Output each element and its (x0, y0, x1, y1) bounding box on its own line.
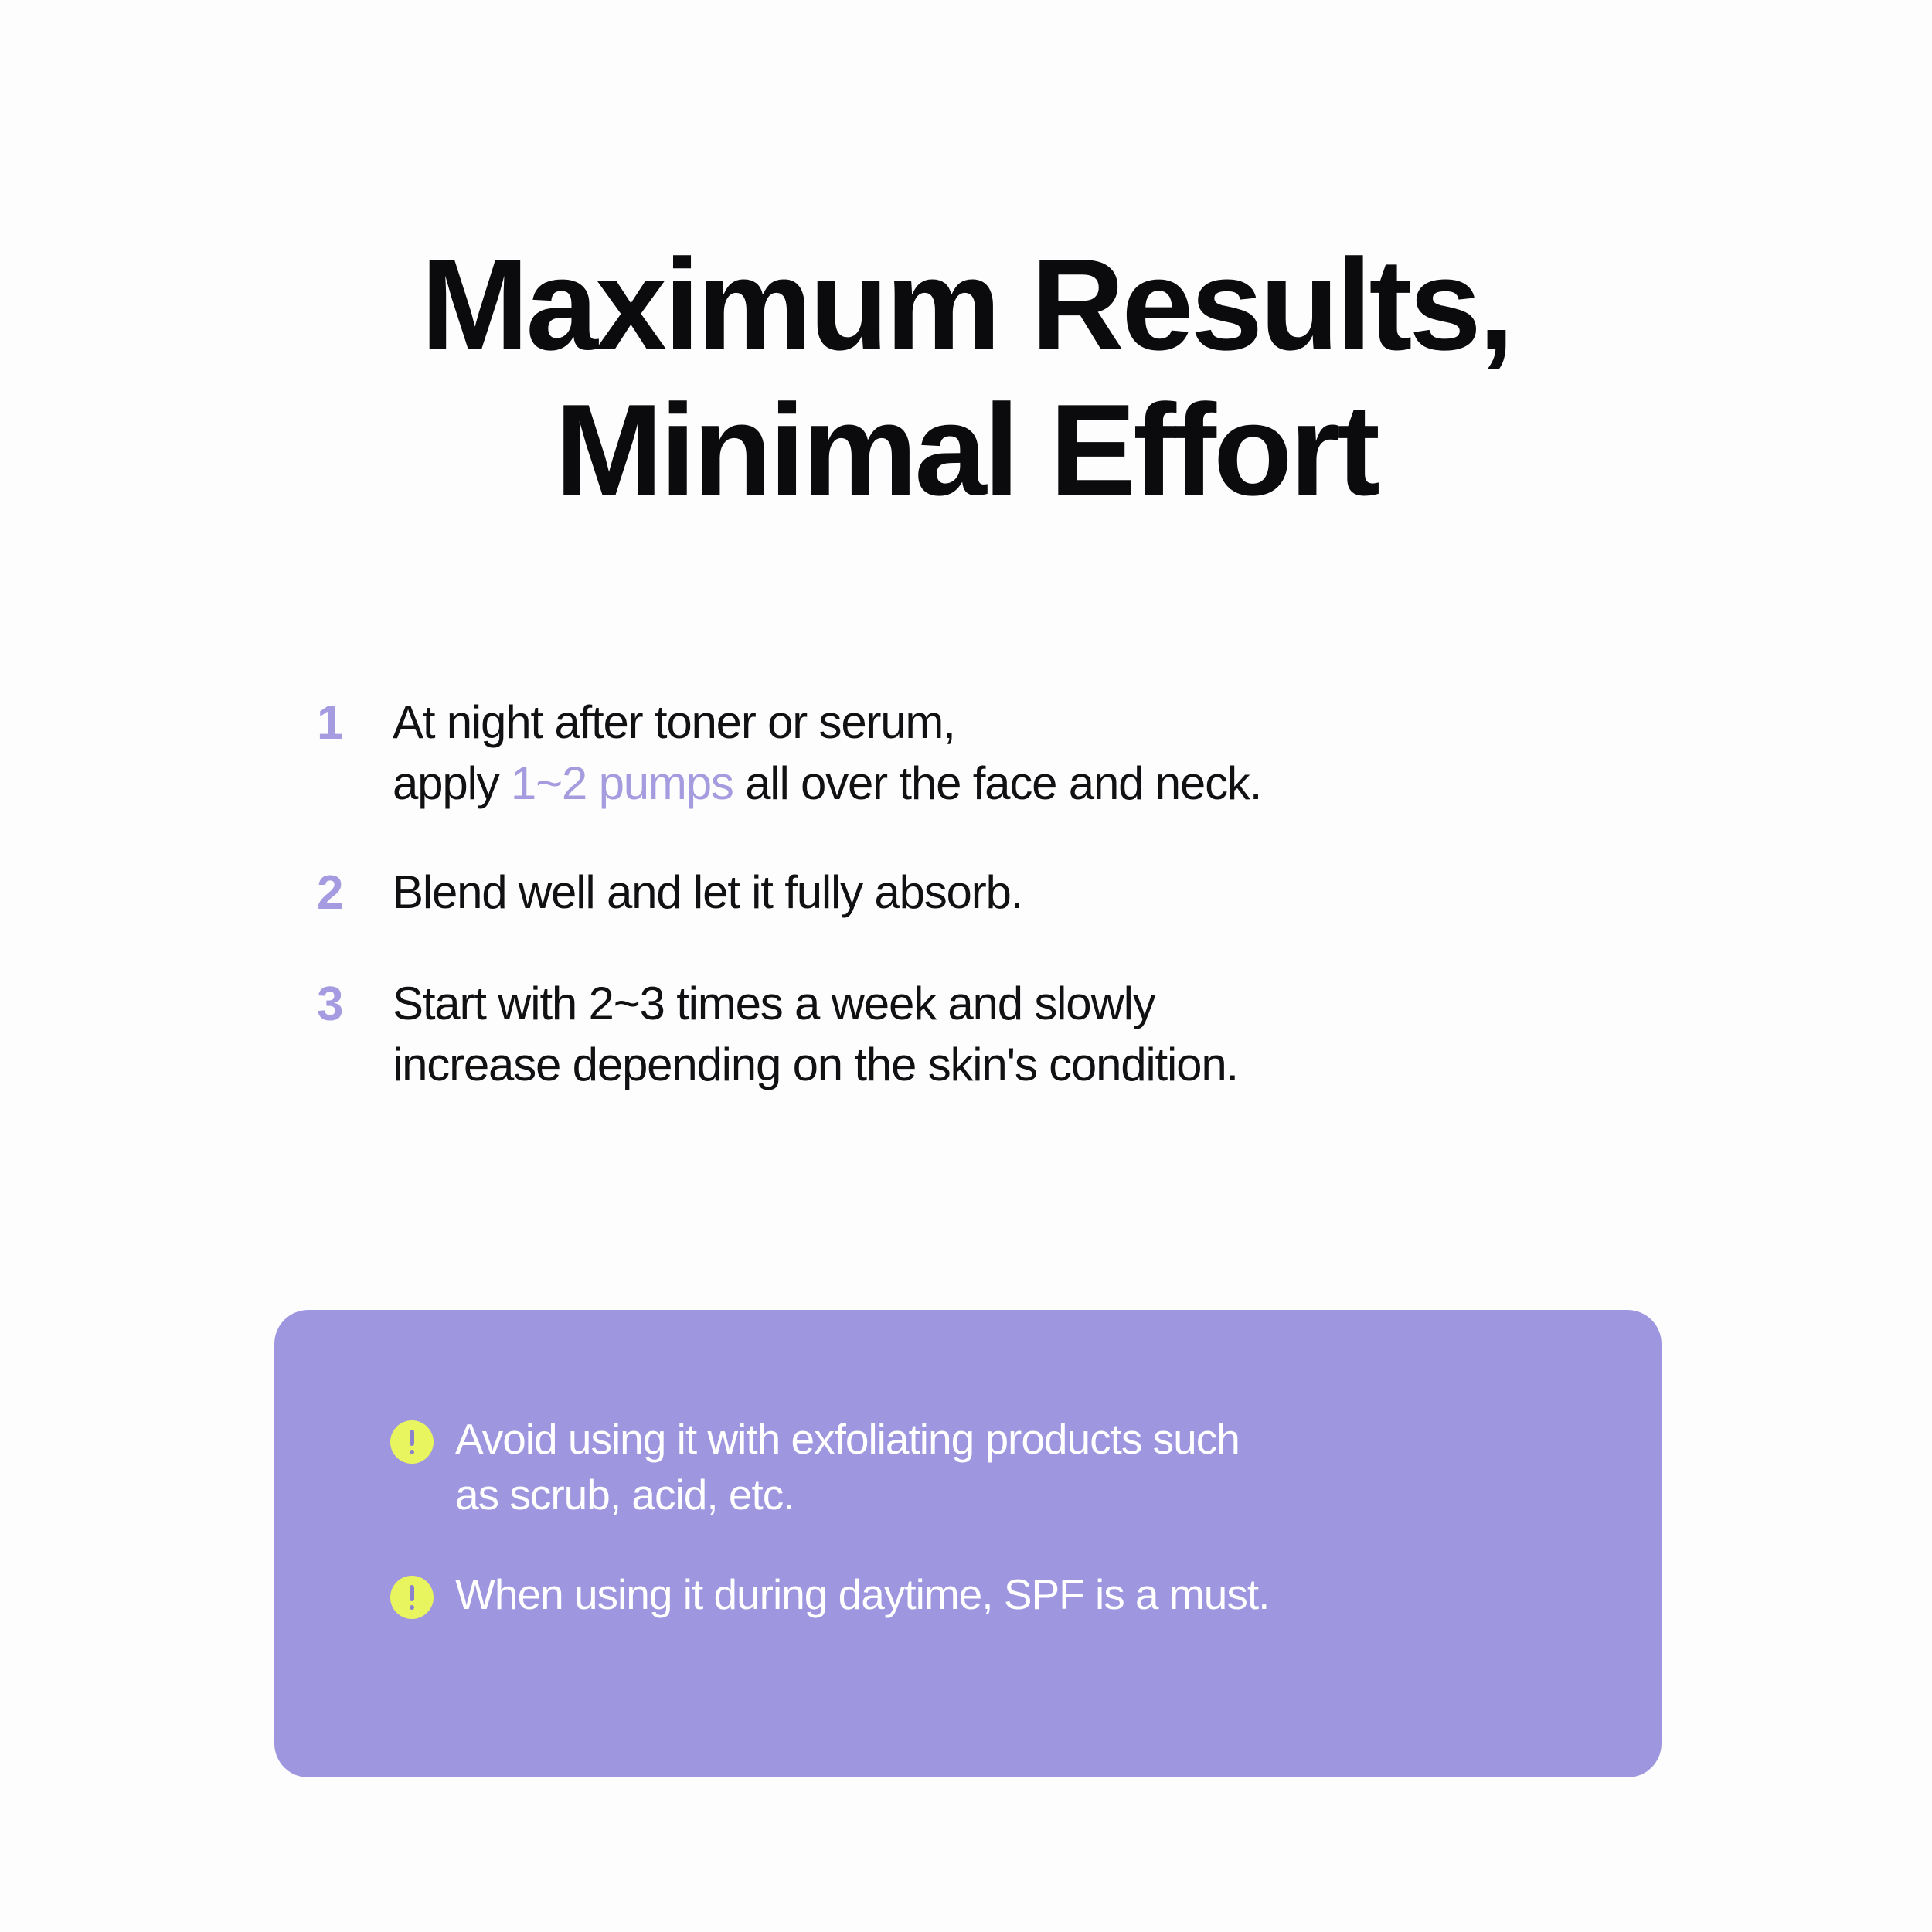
warning-item: Avoid using it with exfoliating products… (390, 1412, 1592, 1522)
usage-step: 2Blend well and let it fully absorb. (317, 862, 1708, 925)
usage-step-line: Blend well and let it fully absorb. (393, 862, 1708, 923)
page-title: Maximum Results, Minimal Effort (0, 232, 1932, 522)
exclamation-circle-icon (390, 1576, 434, 1619)
warning-item-text: Avoid using it with exfoliating products… (455, 1412, 1592, 1522)
step-text-fragment: apply (393, 757, 511, 809)
step-text-fragment: Start with 2~3 times a week and slowly (393, 978, 1155, 1029)
usage-step-line: increase depending on the skin's conditi… (393, 1034, 1708, 1095)
warning-callout-card: Avoid using it with exfoliating products… (274, 1310, 1662, 1777)
step-text-fragment: At night after toner or serum, (393, 696, 955, 748)
usage-step-line: At night after toner or serum, (393, 692, 1708, 753)
usage-step-number: 2 (317, 862, 393, 925)
exclamation-circle-icon (390, 1420, 434, 1464)
step-text-fragment: increase depending on the skin's conditi… (393, 1039, 1238, 1090)
step-text-fragment: Blend well and let it fully absorb. (393, 866, 1022, 918)
usage-step-line: apply 1~2 pumps all over the face and ne… (393, 753, 1708, 814)
usage-step-line: Start with 2~3 times a week and slowly (393, 973, 1708, 1034)
page-title-line-2: Minimal Effort (0, 377, 1932, 522)
usage-steps-list: 1At night after toner or serum,apply 1~2… (317, 692, 1708, 1096)
usage-step-text: Start with 2~3 times a week and slowlyin… (393, 973, 1708, 1095)
usage-step: 3Start with 2~3 times a week and slowlyi… (317, 973, 1708, 1095)
usage-step-text: Blend well and let it fully absorb. (393, 862, 1708, 923)
usage-step: 1At night after toner or serum,apply 1~2… (317, 692, 1708, 814)
highlighted-dosage: 1~2 pumps (511, 757, 733, 809)
warning-item-line: When using it during daytime, SPF is a m… (455, 1567, 1592, 1623)
usage-step-text: At night after toner or serum,apply 1~2 … (393, 692, 1708, 814)
step-text-fragment: all over the face and neck. (733, 757, 1262, 809)
warning-item-line: as scrub, acid, etc. (455, 1468, 1592, 1523)
instruction-card: Maximum Results, Minimal Effort 1At nigh… (0, 0, 1932, 1932)
usage-step-number: 3 (317, 973, 393, 1036)
page-title-line-1: Maximum Results, (0, 232, 1932, 377)
warning-item-line: Avoid using it with exfoliating products… (455, 1412, 1592, 1468)
usage-step-number: 1 (317, 692, 393, 755)
warning-item-text: When using it during daytime, SPF is a m… (455, 1567, 1592, 1623)
warning-item: When using it during daytime, SPF is a m… (390, 1567, 1592, 1623)
